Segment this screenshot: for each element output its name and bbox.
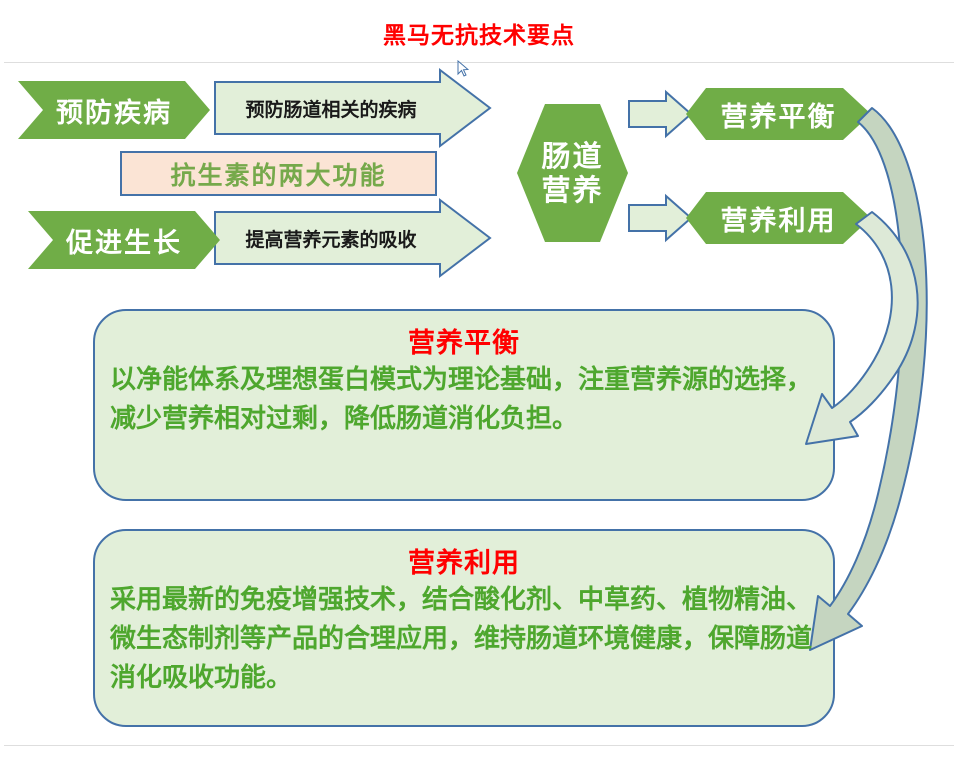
outcome-hexagon-utilization[interactable] <box>686 192 871 244</box>
chevron-promote-growth[interactable] <box>28 211 220 269</box>
block-arrow-to-balance <box>629 92 691 136</box>
diagram-shapes <box>0 0 958 757</box>
panel-shape-balance[interactable] <box>94 310 834 500</box>
chevron-prevent-disease[interactable] <box>18 81 210 139</box>
slide-canvas: 黑马无抗技术要点 <box>0 0 958 757</box>
arrow-box-growth[interactable] <box>215 200 490 276</box>
arrow-box-prevent[interactable] <box>215 70 490 146</box>
outcome-hexagon-balance[interactable] <box>686 88 871 140</box>
block-arrow-to-utilization <box>629 196 691 240</box>
panel-shape-utilization[interactable] <box>94 530 834 726</box>
mouse-pointer-icon <box>457 60 469 78</box>
peach-box-antibiotic-functions[interactable] <box>121 152 436 195</box>
hexagon-gut-nutrition[interactable] <box>517 104 628 242</box>
